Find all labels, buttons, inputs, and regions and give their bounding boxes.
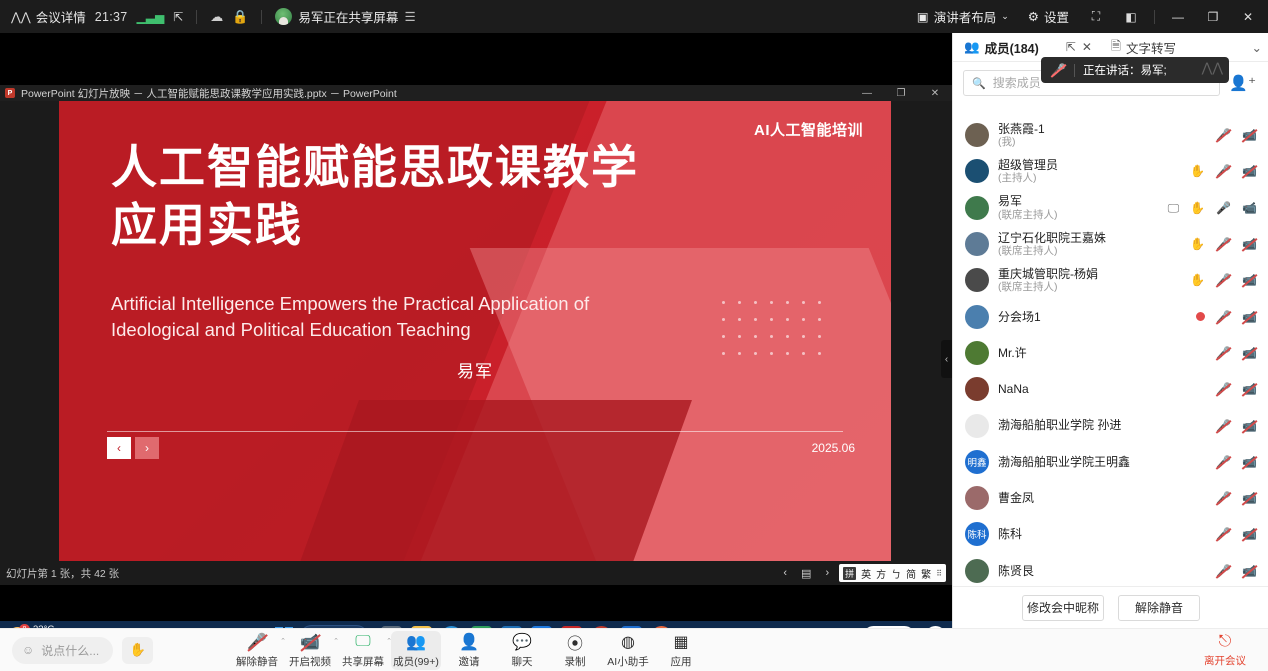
mic-muted-icon[interactable]: 🎤 (1216, 565, 1231, 577)
member-name-block: Mr.许 (998, 346, 1027, 360)
slide-divider (107, 431, 843, 432)
powerpoint-title-bar: PowerPoint 幻灯片放映 － 人工智能赋能思政课教学应用实践.pptx … (0, 85, 952, 101)
tool-label: 开启视频 (289, 654, 331, 669)
chevron-down-icon[interactable]: ⌄ (1252, 40, 1262, 55)
member-status-icons: ✋🎤📹 (1190, 274, 1257, 286)
powerpoint-window: PowerPoint 幻灯片放映 － 人工智能赋能思政课教学应用实践.pptx … (0, 85, 952, 585)
popout-window-icon[interactable]: ⇱ (173, 10, 183, 24)
camera-off-icon[interactable]: 📹 (1242, 129, 1257, 141)
rename-button[interactable]: 修改会中昵称 (1022, 595, 1104, 621)
member-row[interactable]: 曹金凤🎤📹 (953, 480, 1268, 516)
member-name-block: 张燕霞-1(我) (998, 122, 1045, 149)
tool-label: AI小助手 (607, 654, 648, 669)
meeting-details-button[interactable]: ⋀⋀ 会议详情 (11, 7, 86, 26)
search-icon: 🔍 (972, 77, 986, 90)
ime-item[interactable]: 简 (906, 566, 916, 581)
panel-popout-icon[interactable]: ⇱ (1066, 40, 1076, 54)
divider (196, 10, 197, 24)
member-list[interactable]: 张燕霞-1(我)🎤📹超级管理员(主持人)✋🎤📹易军(联席主持人)🖵✋🎤📹辽宁石化… (953, 117, 1268, 586)
slide-canvas[interactable]: AI人工智能培训 人工智能赋能思政课教学 应用实践 Artificial Int… (59, 101, 891, 561)
camera-off-icon[interactable]: 📹 (1242, 238, 1257, 250)
avatar: 陈科 (965, 522, 989, 546)
member-status-icons: 🎤📹 (1216, 492, 1257, 504)
member-name-block: 易军(联席主持人) (998, 194, 1058, 221)
screen-share-icon[interactable]: 🖵 (1168, 202, 1180, 214)
cloud-record-icon[interactable]: ☁ (210, 9, 223, 25)
raise-hand-icon: ✋ (130, 642, 146, 658)
speaking-now-text: 正在讲话：易军; (1083, 62, 1167, 78)
divider (1154, 10, 1155, 24)
panel-footer: 修改会中昵称 解除静音 (953, 586, 1268, 628)
member-name: 分会场1 (998, 310, 1041, 324)
say-something-placeholder: 说点什么... (41, 642, 99, 659)
avatar (965, 196, 989, 220)
camera-off-icon[interactable]: 📹 (1242, 492, 1257, 504)
slide-title-line2: 应用实践 (111, 197, 639, 255)
settings-button[interactable]: ⚙ 设置 (1020, 2, 1077, 31)
tool-apps-grid[interactable]: ▦应用 (656, 631, 706, 670)
raise-hand-button[interactable]: ✋ (122, 637, 153, 664)
tool-label: 共享屏幕 (342, 654, 384, 669)
slide-date: 2025.06 (812, 441, 855, 455)
member-name: 超级管理员 (998, 158, 1058, 172)
member-row[interactable]: 辽宁石化职院王嘉姝(联席主持人)✋🎤📹 (953, 226, 1268, 262)
signal-strength-icon[interactable]: ▁▃▅ (136, 10, 164, 24)
mic-muted-icon[interactable]: 🎤 (1216, 129, 1231, 141)
mic-muted-icon[interactable]: 🎤 (1216, 383, 1231, 395)
camera-off-icon[interactable]: 📹 (1242, 274, 1257, 286)
member-status-icons: 🖵✋🎤📹 (1168, 202, 1257, 214)
divider (261, 10, 262, 24)
camera-off-icon[interactable]: 📹 (1242, 528, 1257, 540)
slide-author: 易军 (59, 357, 891, 382)
apps-grid-icon: ▦ (673, 633, 688, 652)
avatar (965, 232, 989, 256)
member-row[interactable]: 陈贤艮🎤📹 (953, 553, 1268, 586)
member-role: (我) (998, 136, 1045, 148)
mic-muted-icon[interactable]: 🎤 (1216, 311, 1231, 323)
meeting-timer: 21:37 (95, 10, 128, 24)
meeting-app-window: ⋀⋀ 会议详情 21:37 ▁▃▅ ⇱ ☁ 🔒 易军正在共享屏幕 ☰ ▣ 演讲者… (0, 0, 1268, 671)
member-name-block: 重庆城管职院-杨娟(联席主持人) (998, 267, 1098, 294)
member-name: 渤海船舶职业学院 孙进 (998, 418, 1121, 432)
tool-label: 应用 (671, 654, 692, 669)
member-name: 易军 (998, 194, 1058, 208)
status-next-icon[interactable]: › (825, 567, 829, 579)
raise-hand-icon[interactable]: ✋ (1190, 165, 1205, 177)
member-name-block: 陈贤艮 (998, 564, 1034, 578)
emoji-icon: ☺ (22, 643, 34, 657)
share-screen-icon: 🖵 (355, 633, 370, 652)
member-status-icons: 🎤📹 (1216, 383, 1257, 395)
fullscreen-icon[interactable]: ⛶ (1080, 4, 1112, 30)
settings-label: 设置 (1044, 7, 1069, 26)
tab-members-label: 成员(184) (985, 38, 1039, 57)
avatar (965, 159, 989, 183)
mic-muted-icon: 🎤 (1051, 63, 1066, 77)
avatar (965, 268, 989, 292)
avatar (965, 341, 989, 365)
mic-muted-icon[interactable]: 🎤 (1216, 492, 1231, 504)
avatar (965, 305, 989, 329)
mic-muted-icon[interactable]: 🎤 (1216, 528, 1231, 540)
member-role: (主持人) (998, 172, 1058, 184)
sharing-text: 易军正在共享屏幕 (298, 7, 398, 26)
avatar (965, 559, 989, 583)
member-row[interactable]: 明鑫渤海船舶职业学院王明鑫🎤📹 (953, 444, 1268, 480)
members-panel: 👥 成员(184) ⇱ ✕ 🗎 文字转写 ⌄ 🎤 正在讲话：易军; ⋀⋀ 🔍 (952, 33, 1268, 628)
member-status-icons: 🎤📹 (1216, 347, 1257, 359)
powerpoint-status-bar: 幻灯片第 1 张，共 42 张 ‹ ▤ › 拼 英 方 ㄅ 简 繁 ⠿ (0, 561, 952, 585)
close-button[interactable]: ✕ (1232, 4, 1264, 30)
member-name-block: 曹金凤 (998, 491, 1034, 505)
member-name: 陈科 (998, 527, 1022, 541)
slide-menu-icon[interactable]: ▤ (801, 567, 811, 580)
gear-icon: ⚙ (1028, 9, 1039, 24)
privacy-lock-icon[interactable]: 🔒 (232, 9, 248, 25)
chevron-down-icon: ⌄ (1001, 11, 1009, 22)
tool-chat[interactable]: 💬聊天 (497, 631, 547, 670)
member-role: (联席主持人) (998, 245, 1106, 257)
member-row[interactable]: 超级管理员(主持人)✋🎤📹 (953, 153, 1268, 189)
mic-on-icon[interactable]: 🎤 (1216, 202, 1231, 214)
tab-members[interactable]: 👥 成员(184) (959, 35, 1044, 60)
member-row[interactable]: 陈科陈科🎤📹 (953, 516, 1268, 552)
member-row[interactable]: 易军(联席主持人)🖵✋🎤📹 (953, 190, 1268, 226)
meeting-top-bar: ⋀⋀ 会议详情 21:37 ▁▃▅ ⇱ ☁ 🔒 易军正在共享屏幕 ☰ ▣ 演讲者… (0, 0, 1268, 33)
record-icon: ⦿ (567, 633, 583, 652)
member-name: 辽宁石化职院王嘉姝 (998, 231, 1106, 245)
avatar (965, 414, 989, 438)
member-status-icons: 🎤📹 (1216, 528, 1257, 540)
people-icon: 👥 (406, 633, 426, 652)
panel-collapse-button[interactable]: ‹ (941, 340, 952, 378)
speaking-now-toast: 🎤 正在讲话：易军; ⋀⋀ (1041, 57, 1229, 83)
tool-label: 聊天 (512, 654, 533, 669)
ppt-close-button[interactable]: ✕ (918, 85, 952, 101)
unmute-button[interactable]: 解除静音 (1118, 595, 1200, 621)
slide-subtitle-line2: Ideological and Political Education Teac… (111, 317, 589, 343)
member-status-icons: 🎤📹 (1196, 311, 1257, 323)
avatar (965, 486, 989, 510)
shared-screen-stage[interactable]: PowerPoint 幻灯片放映 － 人工智能赋能思政课教学应用实践.pptx … (0, 33, 952, 585)
camera-off-icon: 📹 (300, 633, 320, 652)
ppt-maximize-button[interactable]: ❐ (884, 85, 918, 101)
ime-toolbar[interactable]: 拼 英 方 ㄅ 简 繁 ⠿ (839, 564, 946, 582)
member-name-block: 陈科 (998, 527, 1022, 541)
tool-label: 解除静音 (236, 654, 278, 669)
avatar (965, 377, 989, 401)
avatar (275, 8, 292, 25)
ime-item[interactable]: 繁 (921, 566, 931, 581)
member-name-block: 渤海船舶职业学院王明鑫 (998, 455, 1130, 469)
member-name-block: 渤海船舶职业学院 孙进 (998, 418, 1121, 432)
tool-label: 成员(99+) (393, 654, 439, 669)
slide-title: 人工智能赋能思政课教学 应用实践 (111, 139, 639, 255)
ime-item[interactable]: 英 (861, 566, 871, 581)
tool-people[interactable]: 👥成员(99+) (391, 631, 441, 670)
avatar: 明鑫 (965, 450, 989, 474)
camera-off-icon[interactable]: 📹 (1242, 456, 1257, 468)
invite-icon: 👤 (459, 633, 479, 652)
member-row[interactable]: 渤海船舶职业学院 孙进🎤📹 (953, 407, 1268, 443)
transcript-icon: 🗎 (1111, 37, 1121, 58)
tool-label: 邀请 (459, 654, 480, 669)
member-status-icons: ✋🎤📹 (1190, 165, 1257, 177)
mic-muted-icon[interactable]: 🎤 (1216, 274, 1231, 286)
meeting-tool-list: 🎤解除静音⌃📹开启视频⌃🖵共享屏幕⌃👥成员(99+)👤邀请💬聊天⦿录制◍AI小助… (232, 631, 706, 670)
leave-meeting-button[interactable]: ⎋ 离开会议 (1204, 633, 1246, 668)
slide-subtitle: Artificial Intelligence Empowers the Pra… (111, 291, 589, 342)
status-prev-icon[interactable]: ‹ (783, 567, 787, 579)
member-name: Mr.许 (998, 346, 1027, 360)
mic-muted-icon[interactable]: 🎤 (1216, 238, 1231, 250)
member-name-block: NaNa (998, 382, 1029, 396)
ai-assistant-icon: ◍ (621, 633, 635, 652)
layout-label: 演讲者布局 (934, 7, 997, 26)
meeting-control-bar: ☺ 说点什么... ✋ 🎤解除静音⌃📹开启视频⌃🖵共享屏幕⌃👥成员(99+)👤邀… (0, 628, 1268, 671)
ppt-minimize-button[interactable]: — (850, 85, 884, 101)
camera-off-icon[interactable]: 📹 (1242, 420, 1257, 432)
member-name-block: 分会场1 (998, 310, 1041, 324)
chat-icon: 💬 (512, 633, 532, 652)
mic-muted-icon[interactable]: 🎤 (1216, 165, 1231, 177)
divider (1074, 64, 1075, 77)
layout-icon: ▣ (917, 9, 929, 24)
member-name: 重庆城管职院-杨娟 (998, 267, 1098, 281)
recording-icon[interactable] (1196, 312, 1205, 321)
raise-hand-icon[interactable]: ✋ (1190, 238, 1205, 250)
slide-nav-buttons[interactable]: ‹ › (107, 437, 159, 459)
slide-subtitle-line1: Artificial Intelligence Empowers the Pra… (111, 291, 589, 317)
slide-prev-button[interactable]: ‹ (107, 437, 131, 459)
leave-meeting-label: 离开会议 (1204, 653, 1246, 668)
add-user-icon[interactable]: 👤⁺ (1227, 74, 1258, 92)
tool-record[interactable]: ⦿录制 (550, 631, 600, 670)
maximize-button[interactable]: ❐ (1197, 4, 1229, 30)
member-status-icons: 🎤📹 (1216, 420, 1257, 432)
avatar (965, 123, 989, 147)
mic-muted-icon: 🎤 (247, 633, 267, 652)
camera-off-icon[interactable]: 📹 (1242, 383, 1257, 395)
member-name: 渤海船舶职业学院王明鑫 (998, 455, 1130, 469)
tool-camera-off[interactable]: 📹开启视频⌃ (285, 631, 335, 670)
tool-mic-muted[interactable]: 🎤解除静音⌃ (232, 631, 282, 670)
list-menu-icon[interactable]: ☰ (404, 9, 415, 24)
camera-off-icon[interactable]: 📹 (1242, 311, 1257, 323)
slide-counter: 幻灯片第 1 张，共 42 张 (6, 566, 119, 581)
slide-corner-tag: AI人工智能培训 (754, 119, 863, 140)
signal-bars-icon: ⋀⋀ (11, 10, 31, 24)
meeting-details-label: 会议详情 (36, 7, 86, 26)
tool-ai-assistant[interactable]: ◍AI小助手 (603, 631, 653, 670)
member-name: 曹金凤 (998, 491, 1034, 505)
screen-sharing-indicator[interactable]: 易军正在共享屏幕 ☰ (275, 7, 415, 26)
people-icon: 👥 (964, 40, 980, 55)
minimize-button[interactable]: — (1162, 4, 1194, 30)
member-name-block: 辽宁石化职院王嘉姝(联席主持人) (998, 231, 1106, 258)
member-row[interactable]: 张燕霞-1(我)🎤📹 (953, 117, 1268, 153)
powerpoint-icon (5, 88, 15, 98)
mic-muted-icon[interactable]: 🎤 (1216, 347, 1231, 359)
raise-hand-icon[interactable]: ✋ (1190, 202, 1205, 214)
member-row[interactable]: 分会场1🎤📹 (953, 298, 1268, 334)
member-role: (联席主持人) (998, 281, 1098, 293)
slide-title-line1: 人工智能赋能思政课教学 (111, 139, 639, 197)
member-role: (联席主持人) (998, 209, 1058, 221)
ime-item[interactable]: ㄅ (891, 566, 901, 581)
mic-muted-icon[interactable]: 🎤 (1216, 456, 1231, 468)
slide-next-button[interactable]: › (135, 437, 159, 459)
ime-item[interactable]: 方 (876, 566, 886, 581)
member-name-block: 超级管理员(主持人) (998, 158, 1058, 185)
member-name: 张燕霞-1 (998, 122, 1045, 136)
camera-on-icon[interactable]: 📹 (1242, 202, 1257, 214)
tool-label: 录制 (565, 654, 586, 669)
powerpoint-title-text: PowerPoint 幻灯片放映 － 人工智能赋能思政课教学应用实践.pptx … (21, 86, 397, 101)
member-name: 陈贤艮 (998, 564, 1034, 578)
tool-share-screen[interactable]: 🖵共享屏幕⌃ (338, 631, 388, 670)
watermark-icon: ⋀⋀ (1202, 60, 1223, 76)
say-something-input[interactable]: ☺ 说点什么... (12, 637, 113, 664)
member-row[interactable]: 重庆城管职院-杨娟(联席主持人)✋🎤📹 (953, 262, 1268, 298)
camera-off-icon[interactable]: 📹 (1242, 565, 1257, 577)
member-name: NaNa (998, 382, 1029, 396)
split-view-icon[interactable]: ◧ (1115, 4, 1147, 30)
camera-off-icon[interactable]: 📹 (1242, 165, 1257, 177)
panel-close-icon[interactable]: ✕ (1082, 40, 1092, 54)
member-row[interactable]: NaNa🎤📹 (953, 371, 1268, 407)
raise-hand-icon[interactable]: ✋ (1190, 274, 1205, 286)
exit-icon: ⎋ (1219, 633, 1232, 651)
tool-invite[interactable]: 👤邀请 (444, 631, 494, 670)
ime-mode-button[interactable]: 拼 (843, 567, 856, 580)
member-status-icons: ✋🎤📹 (1190, 238, 1257, 250)
member-status-icons: 🎤📹 (1216, 456, 1257, 468)
member-status-icons: 🎤📹 (1216, 129, 1257, 141)
member-status-icons: 🎤📹 (1216, 565, 1257, 577)
ime-expand-icon[interactable]: ⠿ (936, 569, 942, 578)
camera-off-icon[interactable]: 📹 (1242, 347, 1257, 359)
mic-muted-icon[interactable]: 🎤 (1216, 420, 1231, 432)
tab-transcript-label: 文字转写 (1126, 38, 1176, 57)
member-row[interactable]: Mr.许🎤📹 (953, 335, 1268, 371)
layout-button[interactable]: ▣ 演讲者布局 ⌄ (909, 2, 1017, 31)
